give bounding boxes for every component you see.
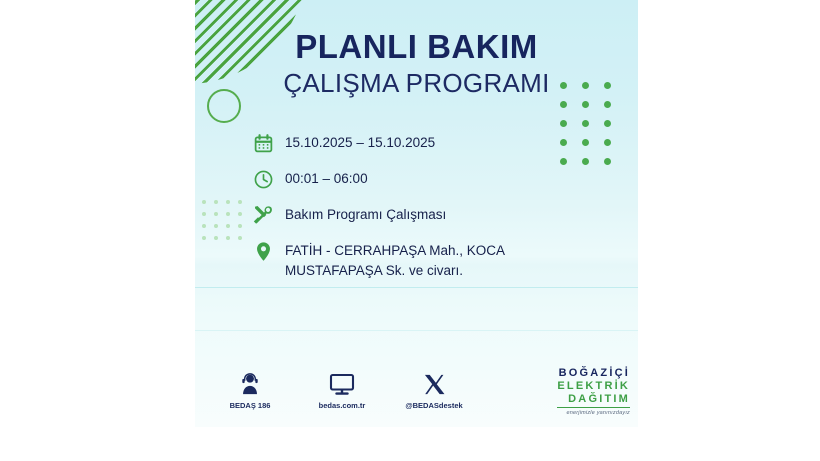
clock-icon bbox=[251, 167, 275, 191]
footer: BEDAŞ 186 bedas.com.tr bbox=[195, 371, 638, 421]
info-time-text: 00:01 – 06:00 bbox=[285, 167, 368, 189]
info-row-time: 00:01 – 06:00 bbox=[251, 167, 631, 191]
divider-lower bbox=[195, 330, 638, 331]
info-row-worktype: Bakım Programı Çalışması bbox=[251, 203, 631, 227]
calendar-icon bbox=[251, 131, 275, 155]
info-worktype-text: Bakım Programı Çalışması bbox=[285, 203, 446, 225]
tools-icon bbox=[251, 203, 275, 227]
contact-website-item[interactable]: bedas.com.tr bbox=[309, 371, 375, 410]
monitor-icon bbox=[309, 371, 375, 397]
brand-tagline: enerjimizle yanınızdayız bbox=[557, 410, 630, 416]
brand-logo: BOĞAZİÇİ ELEKTRİK DAĞITIM enerjimizle ya… bbox=[557, 367, 630, 416]
brand-line-elektrik: ELEKTRİK bbox=[557, 380, 630, 393]
info-date-text: 15.10.2025 – 15.10.2025 bbox=[285, 131, 435, 153]
social-links: BEDAŞ 186 bedas.com.tr bbox=[217, 371, 467, 410]
page-subtitle: ÇALIŞMA PROGRAMI bbox=[195, 69, 638, 98]
info-row-address: FATİH - CERRAHPAŞA Mah., KOCA MUSTAFAPAŞ… bbox=[251, 239, 631, 280]
support-agent-icon bbox=[217, 371, 283, 397]
info-address-text: FATİH - CERRAHPAŞA Mah., KOCA MUSTAFAPAŞ… bbox=[285, 239, 605, 280]
heading-block: PLANLI BAKIM ÇALIŞMA PROGRAMI bbox=[195, 30, 638, 97]
page-title: PLANLI BAKIM bbox=[195, 30, 638, 65]
dot-grid-left-decoration bbox=[202, 200, 250, 248]
contact-website-label: bedas.com.tr bbox=[309, 401, 375, 410]
contact-phone-item[interactable]: BEDAŞ 186 bbox=[217, 371, 283, 410]
info-row-date: 15.10.2025 – 15.10.2025 bbox=[251, 131, 631, 155]
contact-phone-label: BEDAŞ 186 bbox=[217, 401, 283, 410]
x-twitter-icon bbox=[401, 371, 467, 397]
poster-panel: PLANLI BAKIM ÇALIŞMA PROGRAMI 15.10 bbox=[195, 0, 638, 427]
contact-twitter-item[interactable]: @BEDASdestek bbox=[401, 371, 467, 410]
location-pin-icon bbox=[251, 239, 275, 263]
info-list: 15.10.2025 – 15.10.2025 00:01 – 06:00 Ba… bbox=[251, 131, 631, 292]
brand-line-dagitim: DAĞITIM bbox=[557, 393, 630, 408]
brand-line-bogazici: BOĞAZİÇİ bbox=[557, 367, 630, 380]
contact-twitter-label: @BEDASdestek bbox=[401, 401, 467, 410]
